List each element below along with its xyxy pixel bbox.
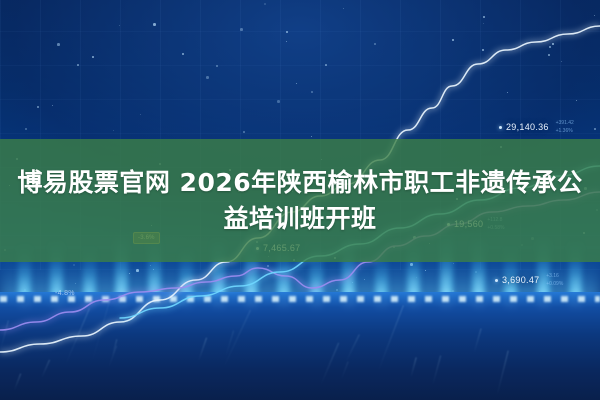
pct-label: -4.8% <box>55 290 75 297</box>
quote-marker-icon <box>499 126 502 129</box>
particle-dot <box>483 16 485 18</box>
particle-dot <box>286 31 288 33</box>
quote-label: 3,690.47 <box>495 275 539 285</box>
quote-marker-icon <box>495 279 498 282</box>
reflection-streak <box>198 338 207 362</box>
reflection-streak <box>377 305 404 373</box>
quote-change: +3.16+0.09% <box>546 273 563 288</box>
reflection-streak <box>432 355 441 386</box>
page-title: 博易股票官网 2026年陕西榆林市职工非遗传承公益培训班开班 <box>14 165 586 236</box>
floor-dash-line <box>0 296 600 302</box>
particle-dot <box>483 23 484 24</box>
reflection-streak <box>14 373 21 390</box>
particle-dot <box>119 25 120 26</box>
particle-dot <box>264 3 266 5</box>
particle-dot <box>343 8 344 9</box>
banner-image: 29,140.36+391.42+1.36%19,560+112.8+0.58%… <box>0 0 600 400</box>
reflection-streak <box>496 351 508 397</box>
particle-dot <box>552 43 554 45</box>
reflection-streak <box>340 361 348 380</box>
quote-value: 3,690.47 <box>502 275 539 285</box>
reflection-streak <box>90 297 111 367</box>
reflection-streak <box>410 357 416 378</box>
particle-dot <box>57 43 60 46</box>
reflection-streak <box>0 320 9 349</box>
reflection-streak <box>473 328 481 353</box>
quote-change: +391.42+1.36% <box>556 120 574 135</box>
particle-dot <box>240 28 243 31</box>
reflection-streak <box>345 334 359 362</box>
reflection-streak <box>320 343 339 387</box>
reflection-streak <box>222 310 251 370</box>
title-band-inner: 博易股票官网 2026年陕西榆林市职工非遗传承公益培训班开班 <box>0 165 600 236</box>
particle-dot <box>594 15 595 16</box>
particle-dot <box>374 43 376 45</box>
reflection-streak <box>41 360 50 379</box>
particle-dot <box>153 23 156 26</box>
particle-dot <box>286 41 287 42</box>
reflection-streak <box>65 308 90 365</box>
quote-value: 29,140.36 <box>506 122 549 132</box>
floor-surface <box>0 292 600 400</box>
quote-label: 29,140.36 <box>499 122 549 132</box>
title-band: 博易股票官网 2026年陕西榆林市职工非遗传承公益培训班开班 <box>0 139 600 262</box>
particle-dot <box>452 39 454 41</box>
